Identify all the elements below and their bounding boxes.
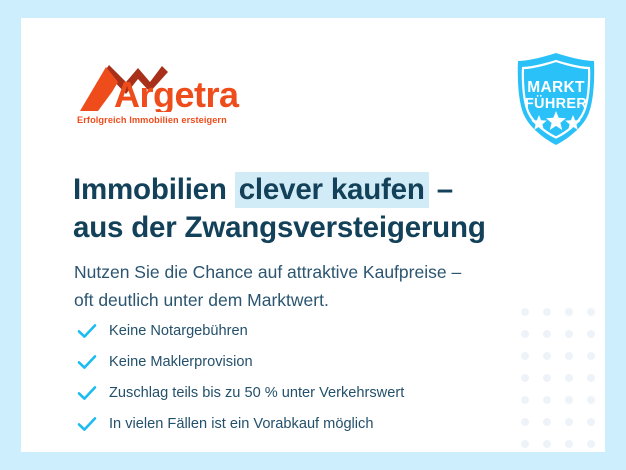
checklist-item: Zuschlag teils bis zu 50 % unter Verkehr… [76,377,546,408]
argetra-logo[interactable]: Argetra Erfolgreich Immobilien ersteiger… [76,62,276,132]
market-leader-badge: MARKT FÜHRER [510,51,602,148]
dot-grid-dot [521,440,529,448]
dot-grid-dot [565,374,573,382]
subheadline: Nutzen Sie die Chance auf attraktive Kau… [74,258,574,314]
dot-grid-dot [587,352,595,360]
dot-grid-dot [587,418,595,426]
dot-grid-dot [565,352,573,360]
dot-grid-dot [587,308,595,316]
headline: Immobilien clever kaufen – aus der Zwang… [73,171,573,247]
svg-text:FÜHRER: FÜHRER [525,95,587,112]
dot-grid-dot [587,396,595,404]
promo-banner: Argetra Erfolgreich Immobilien ersteiger… [0,0,626,470]
headline-prefix: Immobilien [73,173,235,206]
argetra-a-roof-icon: Argetra [76,62,276,112]
checklist-item-label: Keine Notargebühren [109,322,248,340]
headline-highlight: clever kaufen [235,172,429,208]
dot-grid-dot [565,396,573,404]
dot-grid-dot [587,330,595,338]
headline-line-2: aus der Zwangsversteigerung [73,209,573,247]
svg-text:Argetra: Argetra [114,74,240,112]
subheadline-line-2: oft deutlich unter dem Marktwert. [74,286,574,314]
headline-suffix: – [429,173,453,206]
checklist-item-label: Keine Maklerprovision [109,353,253,371]
dot-grid-dot [565,330,573,338]
checklist-item-label: Zuschlag teils bis zu 50 % unter Verkehr… [109,384,404,402]
dot-grid-dot [543,440,551,448]
check-icon [76,320,98,342]
check-icon [76,382,98,404]
checklist-item: Keine Maklerprovision [76,346,546,377]
dot-grid-dot [587,440,595,448]
subheadline-line-1: Nutzen Sie die Chance auf attraktive Kau… [74,258,574,286]
checklist-item: In vielen Fällen ist ein Vorabkauf mögli… [76,408,546,439]
checklist-item: Keine Notargebühren [76,315,546,346]
logo-tagline: Erfolgreich Immobilien ersteigern [77,115,227,125]
svg-text:MARKT: MARKT [527,79,585,96]
dot-grid-dot [587,374,595,382]
headline-line-1: Immobilien clever kaufen – [73,171,573,209]
dot-grid-dot [565,440,573,448]
check-icon [76,413,98,435]
checklist-item-label: In vielen Fällen ist ein Vorabkauf mögli… [109,415,373,433]
dot-grid-dot [565,418,573,426]
banner-card: Argetra Erfolgreich Immobilien ersteiger… [21,18,605,452]
benefits-checklist: Keine NotargebührenKeine Maklerprovision… [76,315,546,439]
check-icon [76,351,98,373]
